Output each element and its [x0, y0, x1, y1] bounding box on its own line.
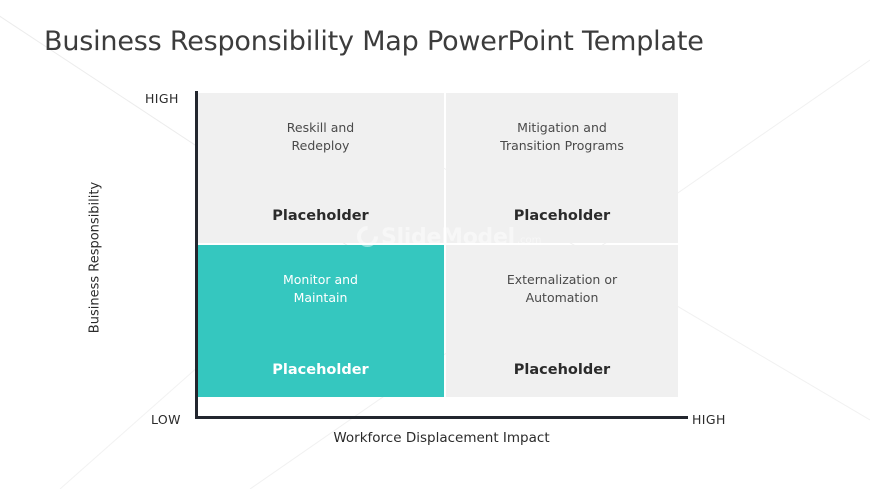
quadrant-placeholder: Placeholder — [197, 362, 444, 378]
quadrant-bottom-left[interactable]: Monitor and Maintain Placeholder — [197, 245, 444, 397]
quadrant-title: Monitor and Maintain — [283, 271, 358, 307]
quadrant-top-left[interactable]: Reskill and Redeploy Placeholder — [197, 93, 444, 243]
quadrant-top-right[interactable]: Mitigation and Transition Programs Place… — [446, 93, 678, 243]
quadrant-title: Externalization or Automation — [507, 271, 617, 307]
page-title: Business Responsibility Map PowerPoint T… — [44, 26, 704, 57]
x-axis-low-label: LOW — [151, 412, 181, 427]
responsibility-matrix: Reskill and Redeploy Placeholder Mitigat… — [197, 93, 678, 397]
y-axis-title: Business Responsibility — [88, 143, 103, 373]
x-axis-high-label: HIGH — [692, 412, 726, 427]
quadrant-placeholder: Placeholder — [197, 208, 444, 224]
quadrant-placeholder: Placeholder — [446, 362, 678, 378]
x-axis-line — [195, 416, 688, 419]
x-axis-title: Workforce Displacement Impact — [195, 430, 688, 446]
quadrant-title: Mitigation and Transition Programs — [500, 119, 624, 155]
quadrant-title: Reskill and Redeploy — [287, 119, 354, 155]
y-axis-high-label: HIGH — [145, 91, 179, 106]
y-axis-line — [195, 91, 198, 419]
quadrant-bottom-right[interactable]: Externalization or Automation Placeholde… — [446, 245, 678, 397]
quadrant-placeholder: Placeholder — [446, 208, 678, 224]
